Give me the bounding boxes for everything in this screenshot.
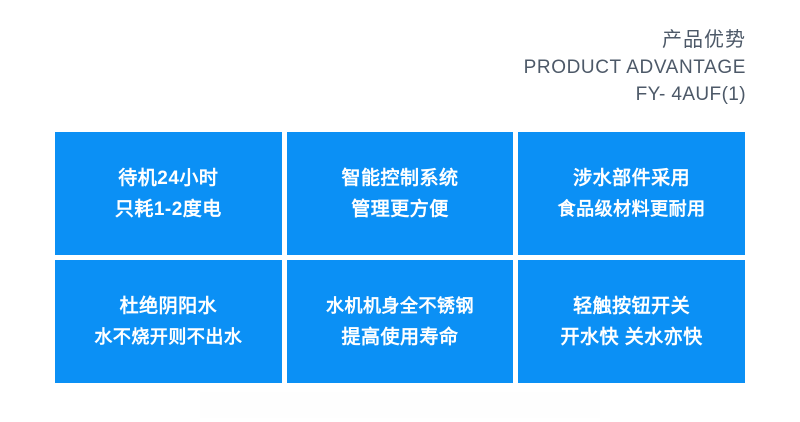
bottom-watermark-smudge [200,392,600,418]
advantage-card-line-2: 水不烧开则不出水 [94,322,242,353]
advantage-card-smart-control: 智能控制系统 管理更方便 [287,132,514,255]
advantage-card-line-1: 待机24小时 [118,163,218,194]
advantage-card-stainless-steel-body: 水机机身全不锈钢 提高使用寿命 [287,260,514,383]
advantage-card-line-1: 水机机身全不锈钢 [326,291,474,322]
advantage-card-line-1: 杜绝阴阳水 [120,291,218,322]
advantage-card-no-mixed-water: 杜绝阴阳水 水不烧开则不出水 [55,260,282,383]
advantage-card-touch-button-switch: 轻触按钮开关 开水快 关水亦快 [518,260,745,383]
advantage-card-line-2: 食品级材料更耐用 [558,194,706,225]
page-title-en: PRODUCT ADVANTAGE [524,58,746,77]
advantage-card-line-1: 轻触按钮开关 [573,291,690,322]
advantage-card-grid: 待机24小时 只耗1-2度电 智能控制系统 管理更方便 涉水部件采用 食品级材料… [55,132,745,383]
advantage-card-standby-power: 待机24小时 只耗1-2度电 [55,132,282,255]
page-title-cn: 产品优势 [524,30,746,50]
advantage-card-line-2: 管理更方便 [351,194,449,225]
advantage-card-line-2: 开水快 关水亦快 [561,322,703,353]
advantage-card-line-2: 提高使用寿命 [341,322,458,353]
advantage-card-line-1: 智能控制系统 [341,163,458,194]
advantage-card-food-grade-material: 涉水部件采用 食品级材料更耐用 [518,132,745,255]
header-block: 产品优势 PRODUCT ADVANTAGE FY- 4AUF(1) [524,30,746,104]
advantage-card-line-1: 涉水部件采用 [573,163,690,194]
product-advantage-page: 产品优势 PRODUCT ADVANTAGE FY- 4AUF(1) 待机24小… [0,0,800,422]
product-model-number: FY- 4AUF(1) [524,85,746,104]
advantage-card-line-2: 只耗1-2度电 [115,194,222,225]
